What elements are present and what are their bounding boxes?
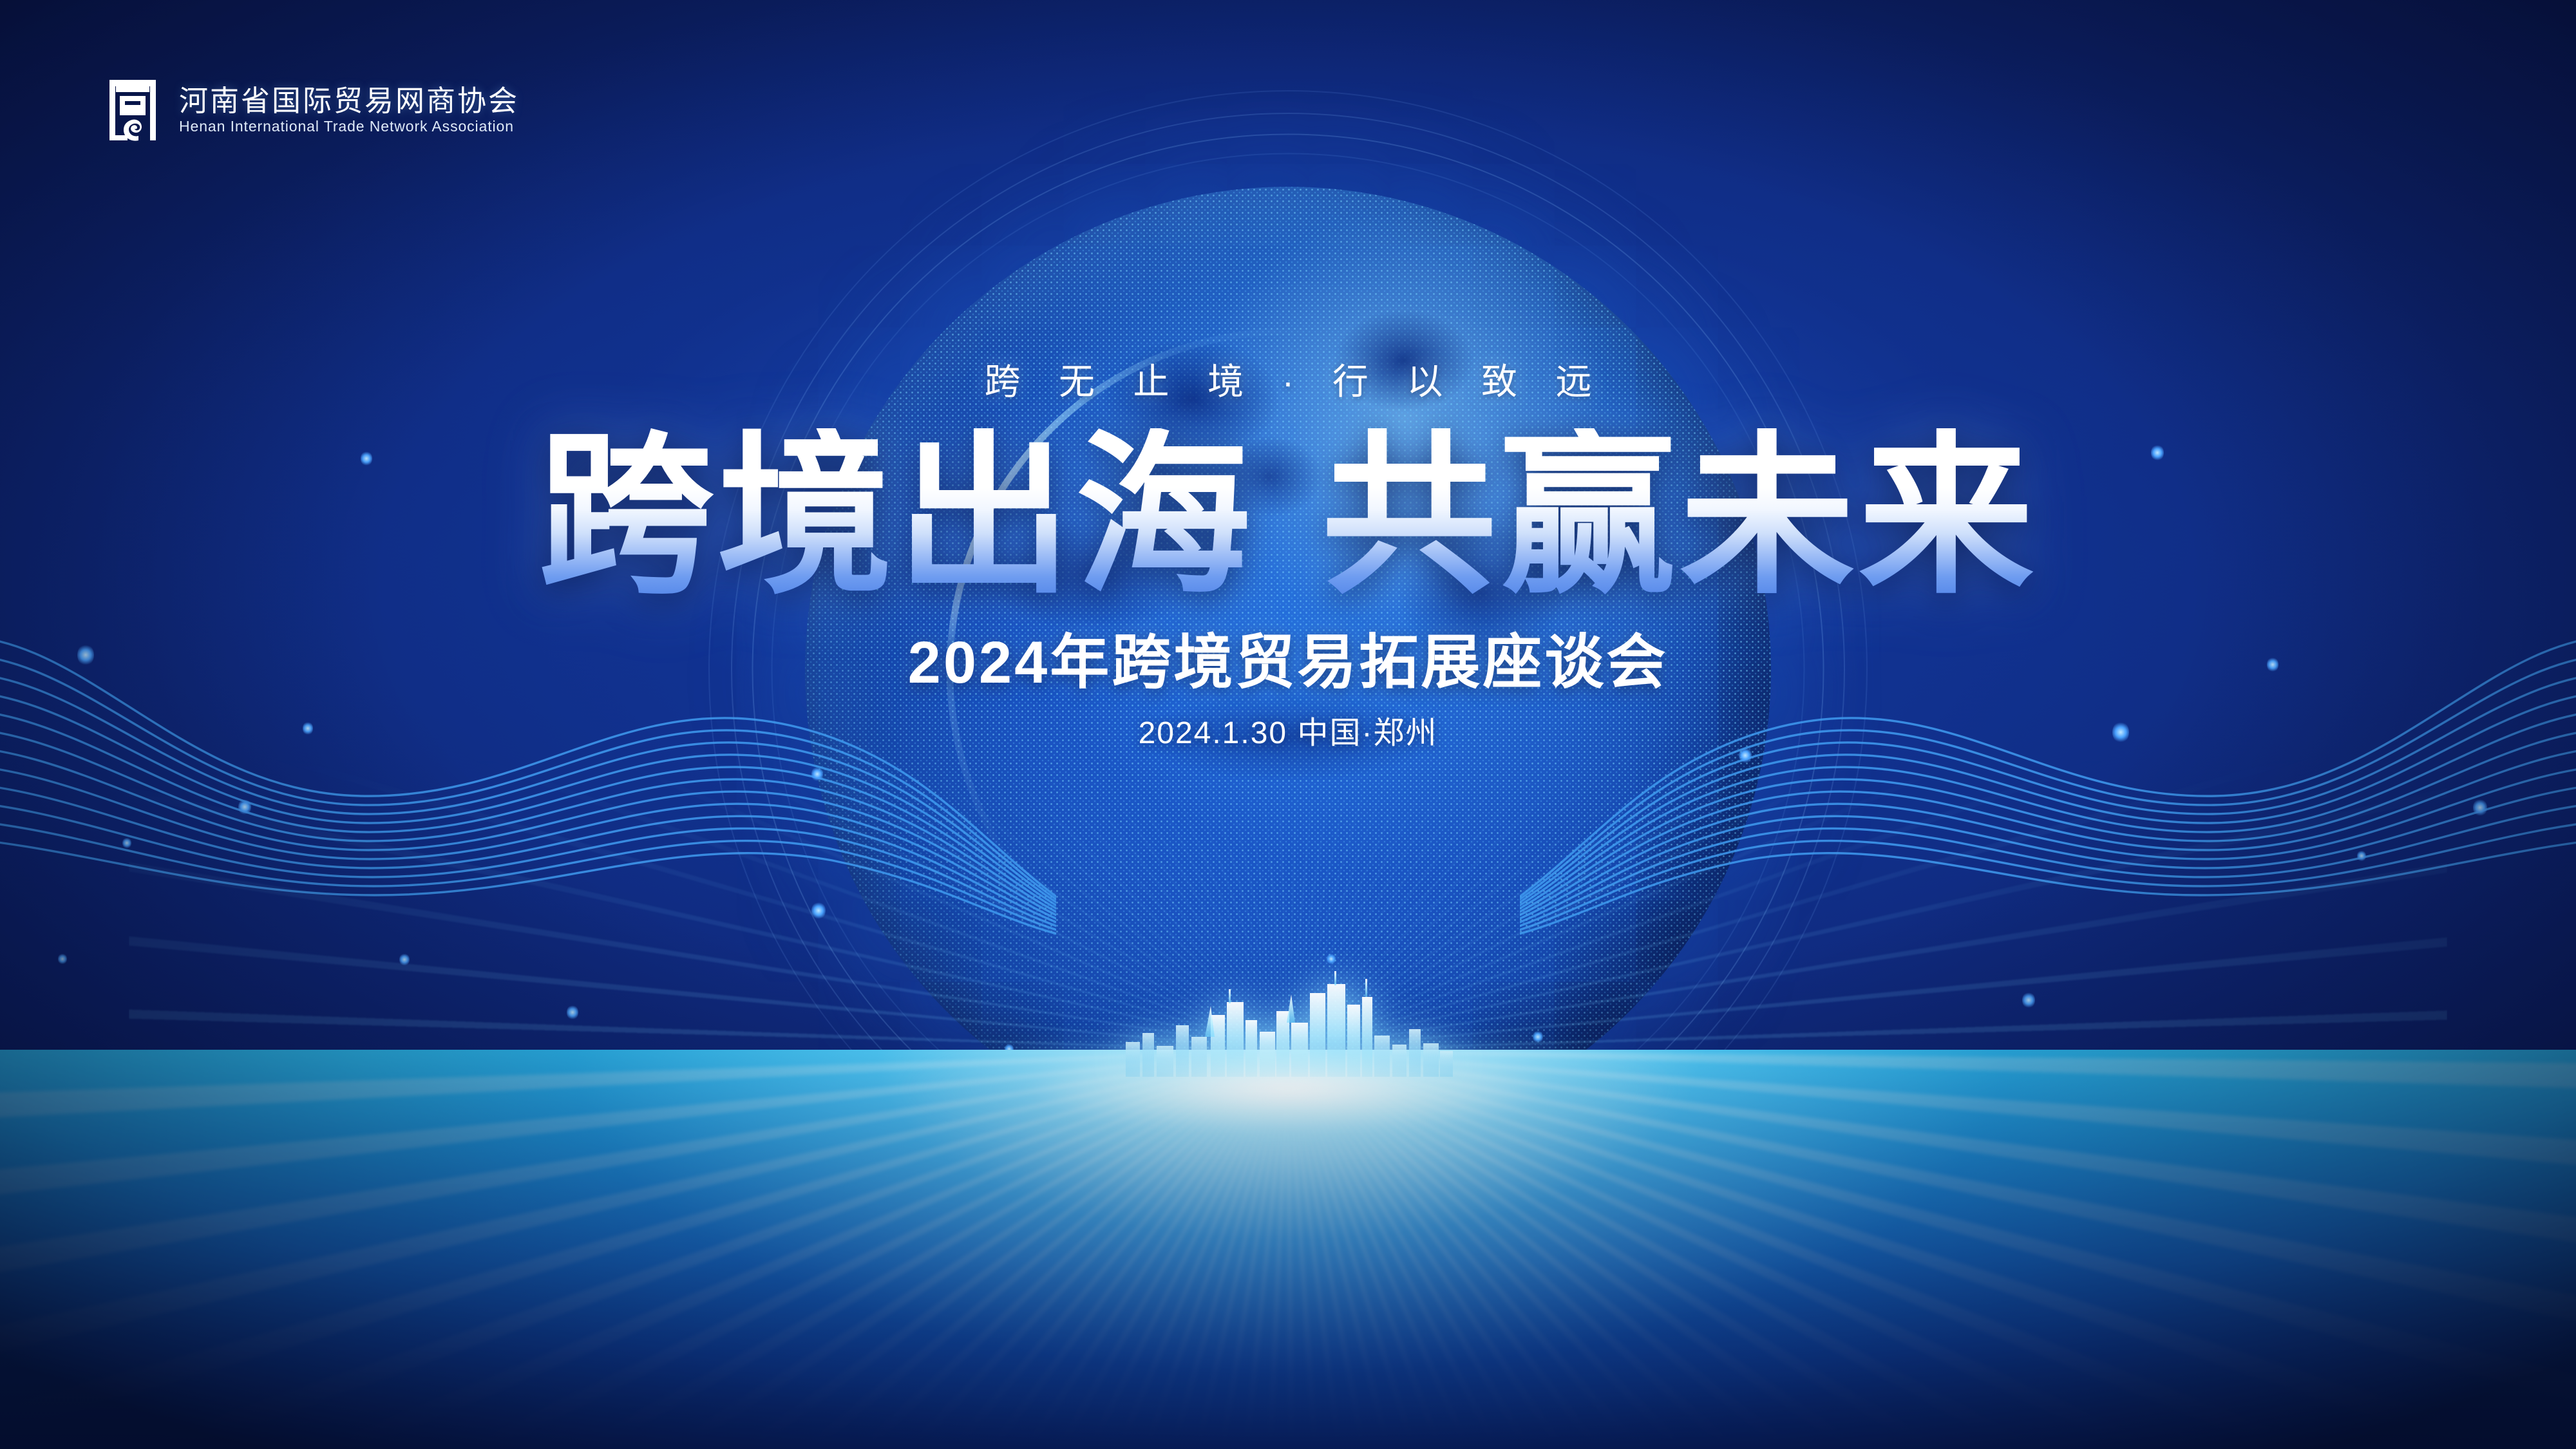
hero-headline: 跨境出海 共赢未来	[538, 428, 2038, 603]
banner-canvas: 河南省国际贸易网商协会 Henan International Trade Ne…	[0, 0, 2576, 1449]
hero-tagline: 跨 无 止 境 · 行 以 致 远	[970, 364, 1605, 400]
hero-date-location: 2024.1.30 中国·郑州	[1139, 718, 1438, 749]
headline-part-2: 共赢未来	[1321, 428, 2038, 603]
brand-name-en: Henan International Trade Network Associ…	[179, 119, 519, 134]
crystal-city-skyline-icon	[1114, 961, 1462, 1077]
hero-subtitle: 2024年跨境贸易拓展座谈会	[908, 633, 1669, 692]
horizon-ground	[0, 1050, 2576, 1449]
seal-script-emblem-icon	[103, 76, 162, 144]
brand-name-cn: 河南省国际贸易网商协会	[179, 86, 519, 115]
headline-part-1: 跨境出海	[538, 428, 1255, 603]
brand-logo[interactable]: 河南省国际贸易网商协会 Henan International Trade Ne…	[103, 76, 519, 144]
brand-text: 河南省国际贸易网商协会 Henan International Trade Ne…	[179, 86, 519, 134]
